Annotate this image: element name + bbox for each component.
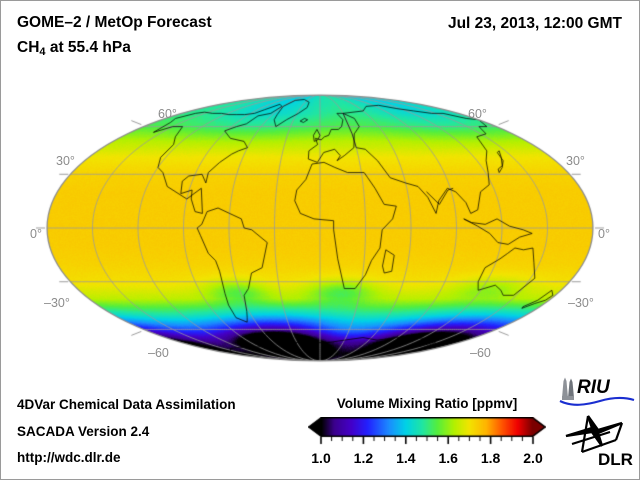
- colorbar-tick-label: 1.0: [311, 450, 330, 466]
- riu-logo-text: RIU: [577, 377, 611, 398]
- species-suffix: at 55.4 hPa: [46, 39, 131, 56]
- colorbar-tick-labels: 1.01.21.41.61.82.0: [308, 450, 546, 468]
- riu-logo: RIU: [556, 374, 636, 408]
- map-area: 60°30°0°–30°–6060°30°0°–30°–60: [0, 78, 640, 378]
- instrument-title: GOME–2 / MetOp Forecast: [17, 15, 212, 31]
- latitude-label-right: –60: [470, 346, 491, 360]
- colorbar-tick-label: 1.6: [438, 450, 457, 466]
- map-canvas: [0, 78, 640, 378]
- latitude-label-right: 60°: [468, 107, 487, 121]
- latitude-label-left: –30°: [44, 296, 70, 310]
- latitude-label-left: 60°: [158, 107, 177, 121]
- colorbar-block: Volume Mixing Ratio [ppmv] 1.01.21.41.61…: [308, 396, 546, 468]
- footer-line-assimilation: 4DVar Chemical Data Assimilation: [17, 398, 236, 412]
- colorbar-title: Volume Mixing Ratio [ppmv]: [308, 396, 546, 411]
- colorbar-tick-label: 1.8: [481, 450, 500, 466]
- colorbar-tick-label: 1.2: [354, 450, 373, 466]
- title-block: GOME–2 / MetOp Forecast CH4 at 55.4 hPa: [17, 15, 212, 55]
- timestamp-label: Jul 23, 2013, 12:00 GMT: [448, 15, 622, 33]
- dlr-logo-text: DLR: [598, 450, 633, 468]
- latitude-label-left: –60: [148, 346, 169, 360]
- riu-spire-icon: [562, 378, 574, 401]
- footer-block: 4DVar Chemical Data Assimilation SACADA …: [17, 398, 236, 478]
- footer-line-url[interactable]: http://wdc.dlr.de: [17, 451, 236, 465]
- latitude-label-left: 0°: [30, 227, 42, 241]
- species-title: CH4 at 55.4 hPa: [17, 40, 212, 56]
- species-subscript: 4: [39, 46, 45, 58]
- dlr-logo: DLR: [558, 410, 636, 468]
- latitude-label-left: 30°: [56, 154, 75, 168]
- colorbar-tick-label: 2.0: [523, 450, 542, 466]
- colorbar-gradient: [308, 417, 546, 449]
- species-prefix: CH: [17, 39, 39, 56]
- latitude-label-right: 0°: [598, 227, 610, 241]
- latitude-label-right: –30°: [568, 296, 594, 310]
- footer-line-version: SACADA Version 2.4: [17, 425, 236, 439]
- latitude-label-right: 30°: [566, 154, 585, 168]
- dlr-star-icon: [566, 416, 622, 452]
- colorbar-tick-label: 1.4: [396, 450, 415, 466]
